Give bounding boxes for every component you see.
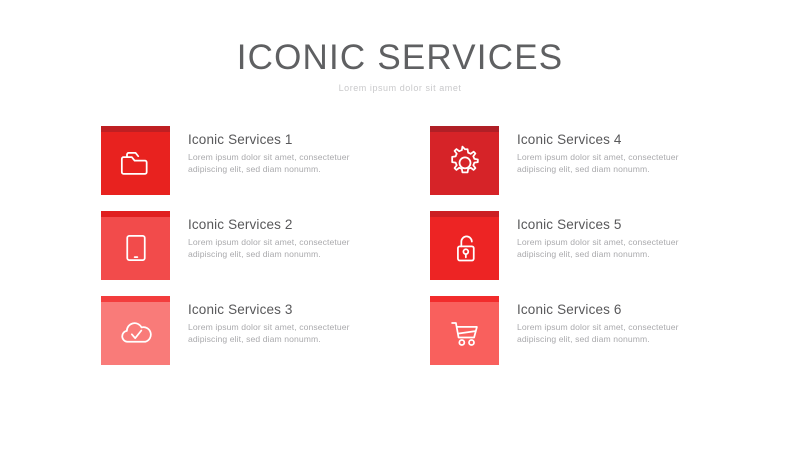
service-tile[interactable] (101, 296, 170, 365)
service-text: Iconic Services 6 Lorem ipsum dolor sit … (499, 296, 729, 346)
service-tile[interactable] (430, 296, 499, 365)
service-item[interactable]: Iconic Services 1 Lorem ipsum dolor sit … (101, 126, 400, 195)
service-text: Iconic Services 1 Lorem ipsum dolor sit … (170, 126, 400, 176)
service-description: Lorem ipsum dolor sit amet, consectetuer… (188, 151, 378, 176)
unlock-icon (445, 228, 485, 268)
service-title: Iconic Services 2 (188, 217, 400, 233)
service-tile[interactable] (101, 126, 170, 195)
tile-top-strip (430, 126, 499, 132)
service-title: Iconic Services 4 (517, 132, 729, 148)
service-item[interactable]: Iconic Services 4 Lorem ipsum dolor sit … (430, 126, 729, 195)
gear-icon (445, 143, 485, 183)
tile-top-strip (101, 296, 170, 302)
tablet-icon (116, 228, 156, 268)
service-title: Iconic Services 6 (517, 302, 729, 318)
service-description: Lorem ipsum dolor sit amet, consectetuer… (188, 321, 378, 346)
service-description: Lorem ipsum dolor sit amet, consectetuer… (517, 151, 707, 176)
service-text: Iconic Services 5 Lorem ipsum dolor sit … (499, 211, 729, 261)
service-tile[interactable] (430, 211, 499, 280)
folder-icon (116, 143, 156, 183)
tile-top-strip (101, 211, 170, 217)
service-item[interactable]: Iconic Services 3 Lorem ipsum dolor sit … (101, 296, 400, 365)
service-tile[interactable] (101, 211, 170, 280)
service-description: Lorem ipsum dolor sit amet, consectetuer… (188, 236, 378, 261)
service-text: Iconic Services 2 Lorem ipsum dolor sit … (170, 211, 400, 261)
service-description: Lorem ipsum dolor sit amet, consectetuer… (517, 236, 707, 261)
service-item[interactable]: Iconic Services 6 Lorem ipsum dolor sit … (430, 296, 729, 365)
tile-top-strip (101, 126, 170, 132)
tile-top-strip (430, 296, 499, 302)
service-tile[interactable] (430, 126, 499, 195)
tile-top-strip (430, 211, 499, 217)
service-item[interactable]: Iconic Services 5 Lorem ipsum dolor sit … (430, 211, 729, 280)
cloud-check-icon (116, 313, 156, 353)
slide-root: ICONIC SERVICES Lorem ipsum dolor sit am… (0, 0, 800, 450)
service-title: Iconic Services 1 (188, 132, 400, 148)
service-item[interactable]: Iconic Services 2 Lorem ipsum dolor sit … (101, 211, 400, 280)
slide-header: ICONIC SERVICES Lorem ipsum dolor sit am… (0, 38, 800, 94)
page-subtitle: Lorem ipsum dolor sit amet (0, 82, 800, 94)
service-description: Lorem ipsum dolor sit amet, consectetuer… (517, 321, 707, 346)
page-title: ICONIC SERVICES (0, 38, 800, 78)
service-text: Iconic Services 4 Lorem ipsum dolor sit … (499, 126, 729, 176)
service-text: Iconic Services 3 Lorem ipsum dolor sit … (170, 296, 400, 346)
service-title: Iconic Services 3 (188, 302, 400, 318)
services-grid: Iconic Services 1 Lorem ipsum dolor sit … (101, 126, 729, 365)
shopping-cart-icon (445, 313, 485, 353)
service-title: Iconic Services 5 (517, 217, 729, 233)
